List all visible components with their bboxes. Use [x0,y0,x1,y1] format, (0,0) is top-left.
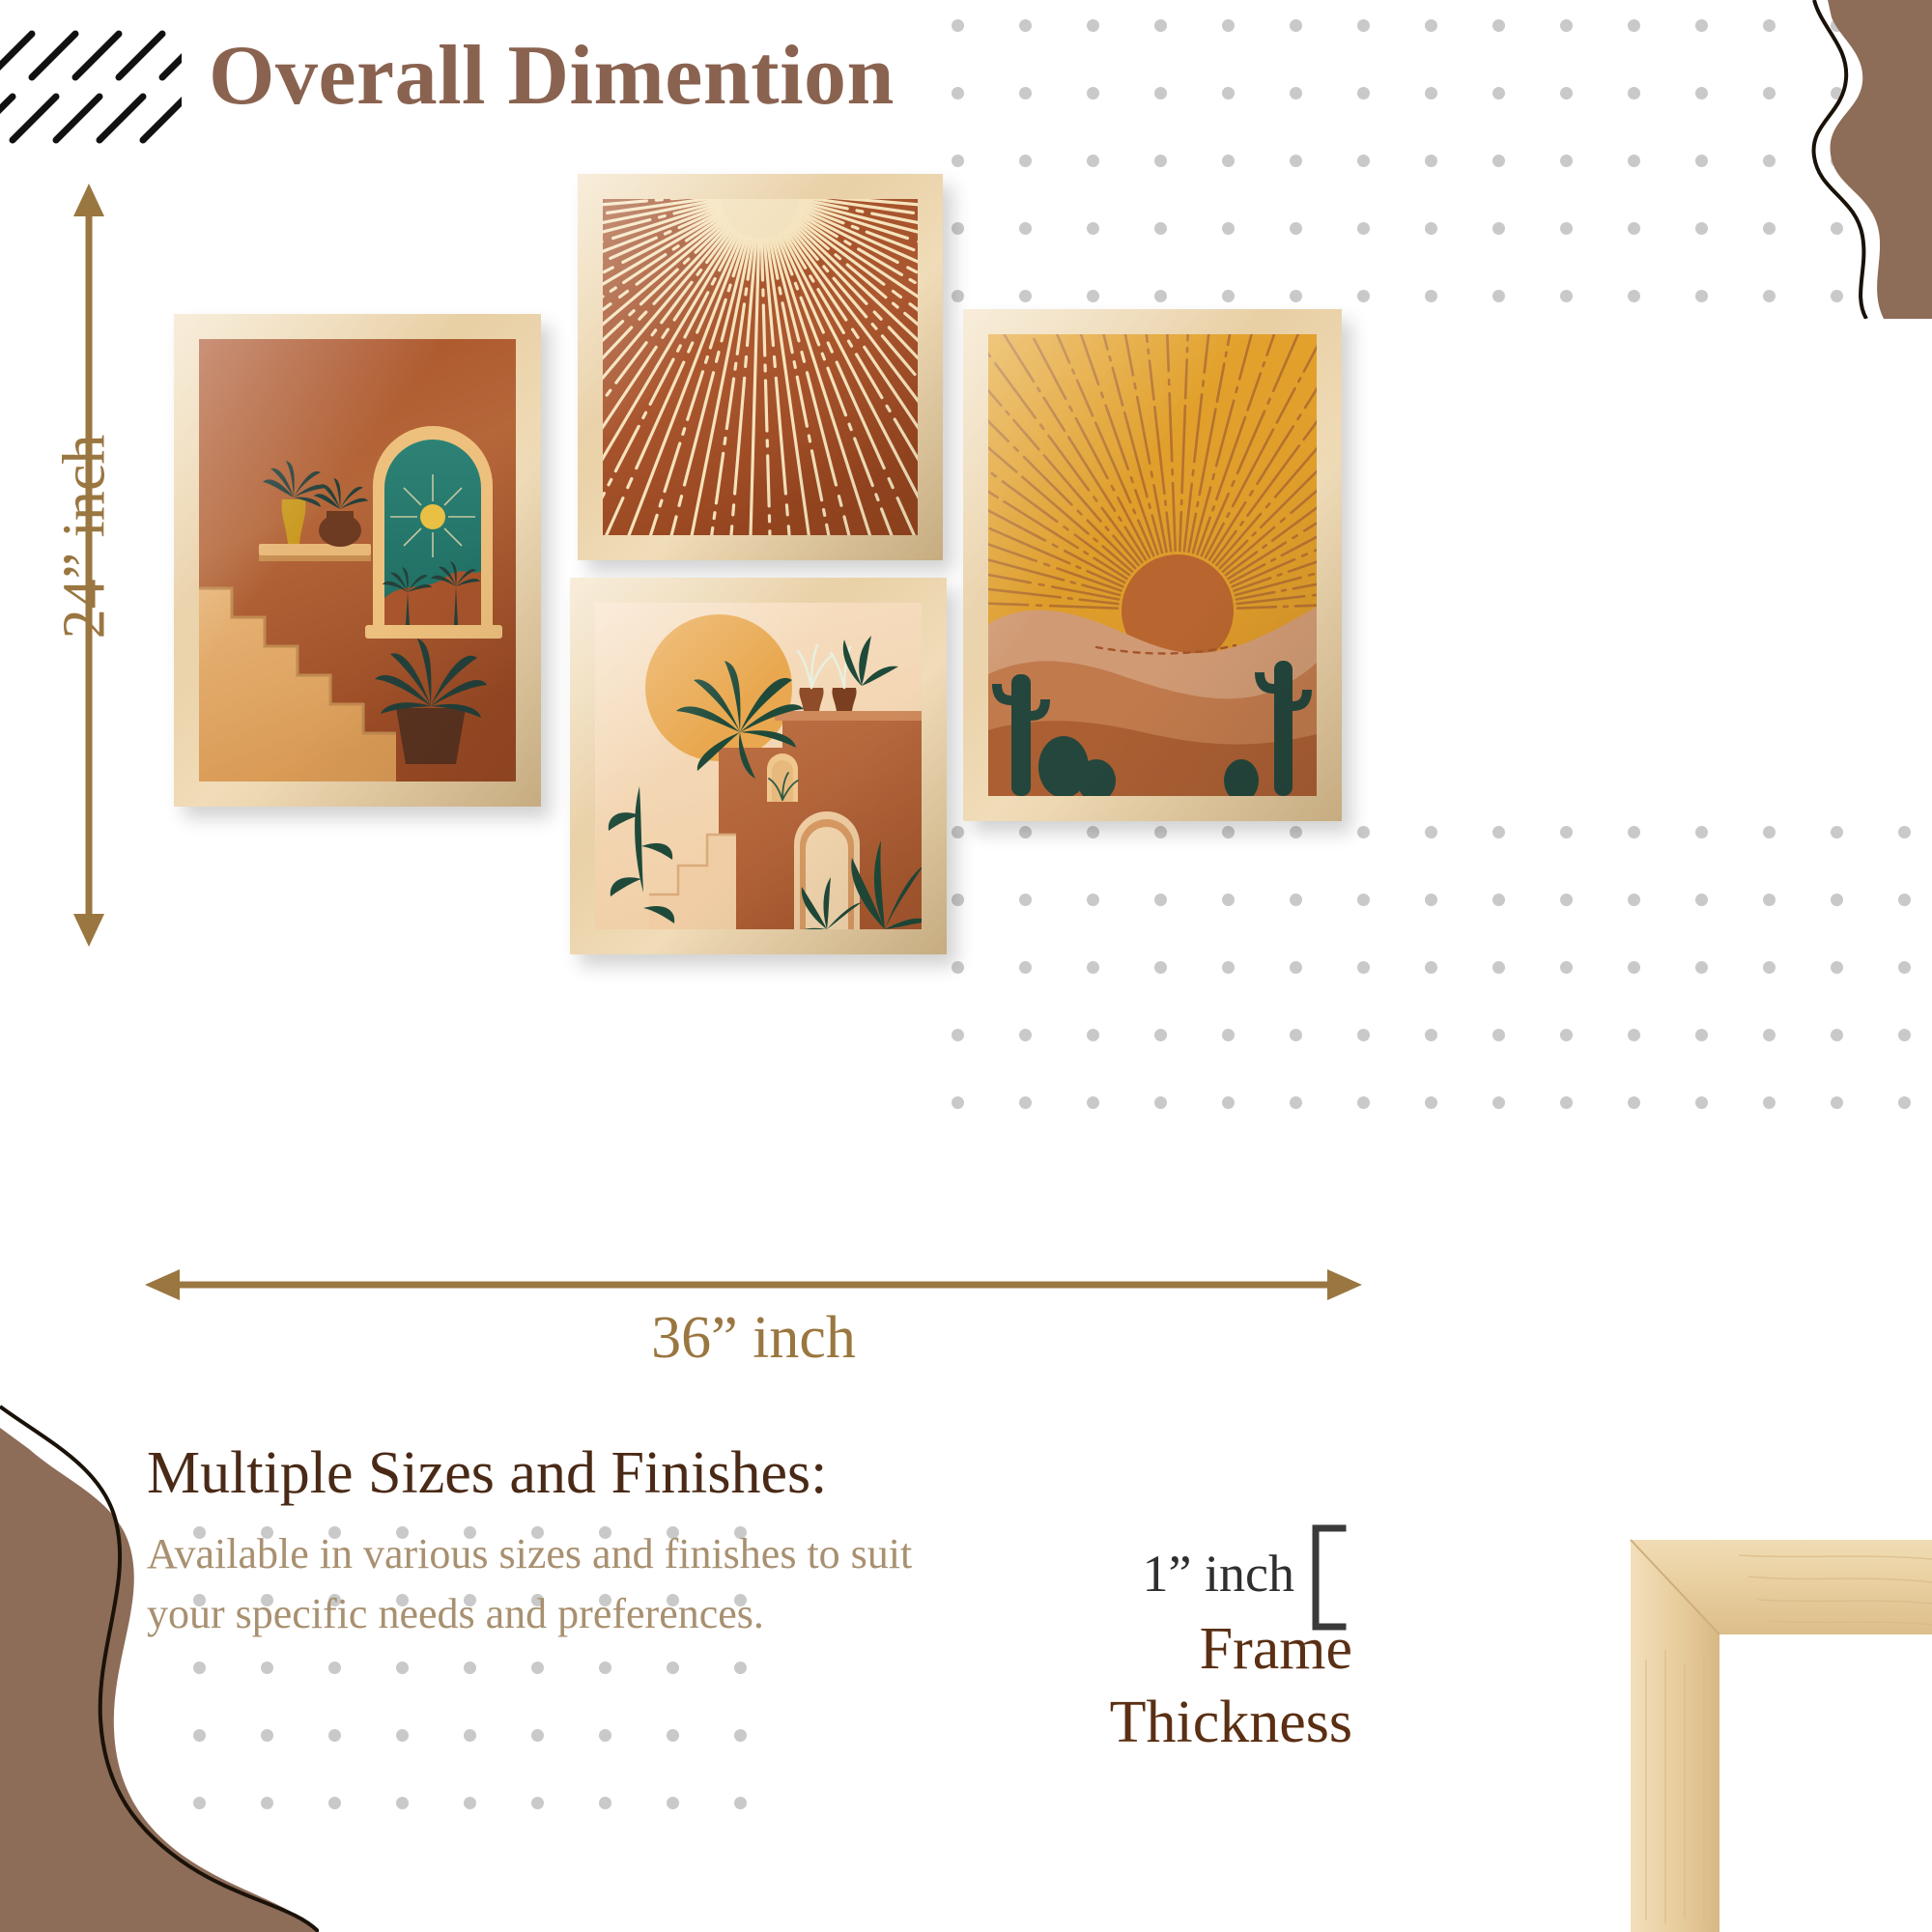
art-desert-sunrise-cactus [988,334,1317,796]
height-dimension-label: 24” inch [51,412,120,663]
features-body: Available in various sizes and finishes … [147,1524,997,1645]
diagonal-hatch-decoration [0,19,182,155]
blob-decoration-top-right [1642,0,1932,319]
frame-thickness-word-frame: Frame [1043,1615,1352,1684]
frame-corner-sample [1623,1534,1932,1932]
art-terracotta-arch-window [199,339,516,781]
artwork-canvas-bottom-center [595,603,922,929]
artwork-canvas-top-center [603,199,918,535]
dot-grid-bottom-right [952,826,1932,1106]
infographic-canvas: Overall Dimention 24” inch 36” inch [0,0,1932,1932]
features-heading: Multiple Sizes and Finishes: [147,1439,827,1508]
width-dimension-label: 36” inch [541,1304,966,1373]
artwork-canvas-right [988,334,1317,796]
artwork-frame-right[interactable] [963,309,1342,821]
art-desert-building-plants [595,603,922,929]
page-title: Overall Dimention [209,27,895,125]
frame-thickness-measure-label: 1” inch [1053,1544,1294,1604]
art-sunburst-rust [603,199,918,535]
artwork-frame-left[interactable] [174,314,541,807]
artwork-frame-bottom-center[interactable] [570,578,947,954]
frame-thickness-word-thickness: Thickness [985,1689,1352,1757]
artwork-canvas-left [199,339,516,781]
artwork-frame-top-center[interactable] [578,174,943,560]
